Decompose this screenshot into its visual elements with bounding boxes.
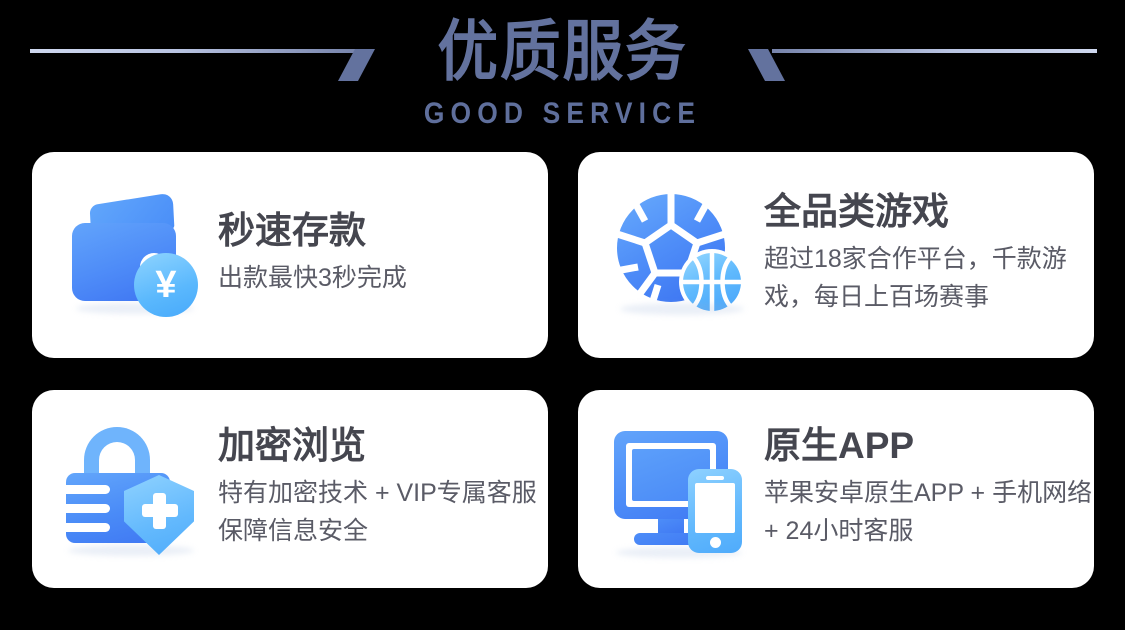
wallet-icon: ¥ — [62, 185, 212, 325]
feature-card-encryption[interactable]: 加密浏览 特有加密技术 + VIP专属客服保障信息安全 — [32, 390, 548, 588]
card-subtitle: 出款最快3秒完成 — [218, 259, 407, 297]
feature-card-games[interactable]: 全品类游戏 超过18家合作平台，千款游戏，每日上百场赛事 — [578, 152, 1094, 358]
padlock-slot — [66, 504, 110, 513]
card-title: 原生APP — [764, 424, 1094, 468]
card-subtitle: 苹果安卓原生APP + 手机网络 + 24小时客服 — [764, 474, 1094, 550]
card-subtitle: 特有加密技术 + VIP专属客服保障信息安全 — [218, 474, 548, 550]
card-text-block: 原生APP 苹果安卓原生APP + 手机网络 + 24小时客服 — [758, 424, 1094, 554]
icon-shadow — [620, 303, 744, 315]
card-text-block: 秒速存款 出款最快3秒完成 — [212, 209, 407, 301]
card-text-block: 全品类游戏 超过18家合作平台，千款游戏，每日上百场赛事 — [758, 190, 1094, 320]
cross-icon — [153, 493, 166, 529]
smartphone-home-button — [710, 537, 721, 548]
monitor-icon — [608, 419, 758, 559]
feature-card-grid: ¥ 秒速存款 出款最快3秒完成 — [32, 152, 1094, 588]
padlock-slot — [66, 523, 110, 532]
feature-card-deposit[interactable]: ¥ 秒速存款 出款最快3秒完成 — [32, 152, 548, 358]
smartphone-screen — [695, 483, 735, 533]
card-title: 全品类游戏 — [764, 190, 1094, 234]
feature-card-native-app[interactable]: 原生APP 苹果安卓原生APP + 手机网络 + 24小时客服 — [578, 390, 1094, 588]
yuan-coin-icon: ¥ — [134, 253, 198, 317]
padlock-icon — [62, 419, 212, 559]
icon-shadow — [68, 545, 194, 556]
soccer-ball-icon — [608, 185, 758, 325]
card-title: 加密浏览 — [218, 424, 548, 468]
card-title: 秒速存款 — [218, 209, 407, 253]
page-title: 优质服务 — [45, 8, 1080, 94]
page-header: 优质服务 GOOD SERVICE — [0, 0, 1125, 140]
padlock-slot — [66, 485, 110, 494]
smartphone-speaker — [706, 476, 724, 480]
card-subtitle: 超过18家合作平台，千款游戏，每日上百场赛事 — [764, 240, 1094, 316]
card-text-block: 加密浏览 特有加密技术 + VIP专属客服保障信息安全 — [212, 424, 548, 554]
page-subtitle: GOOD SERVICE — [68, 97, 1058, 131]
